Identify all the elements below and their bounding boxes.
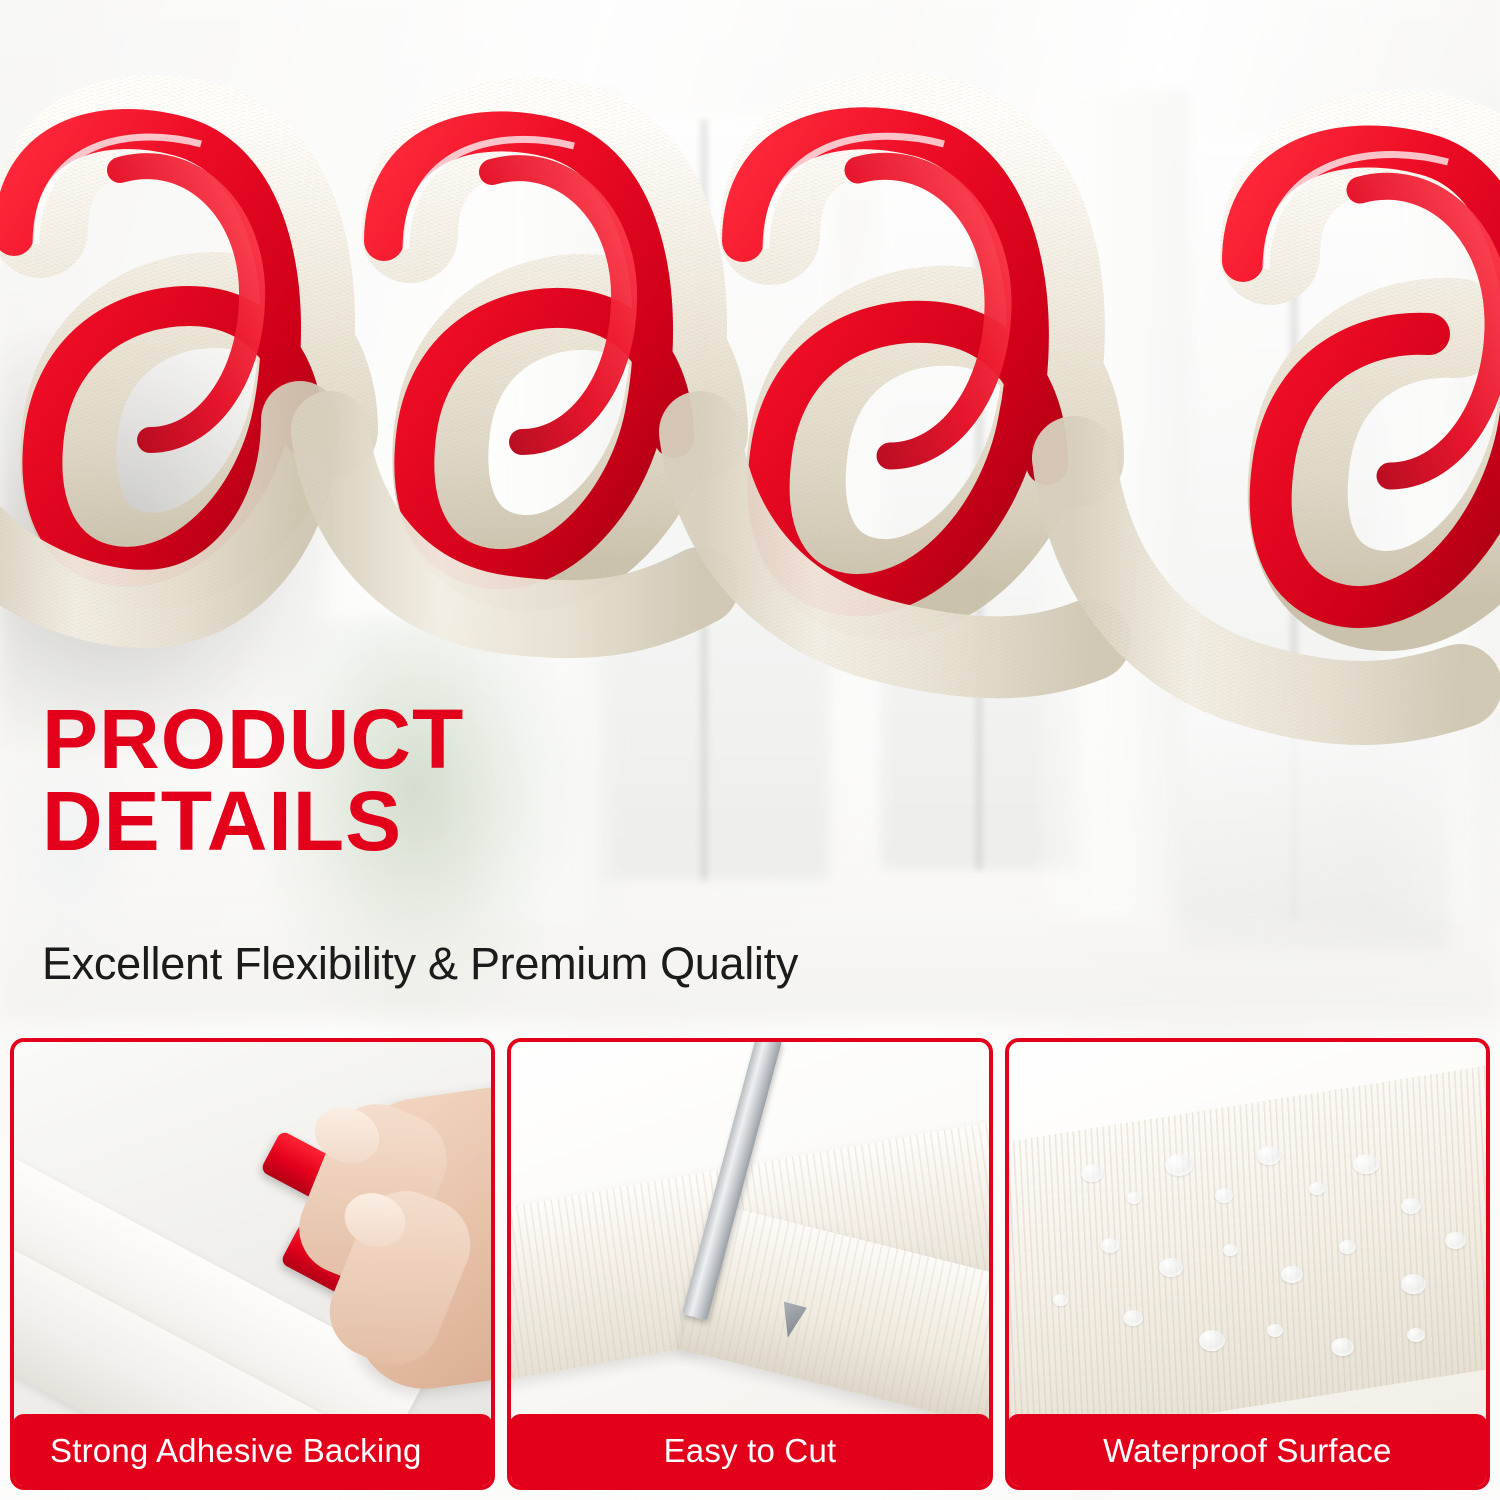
page-title: PRODUCT DETAILS (42, 698, 762, 863)
water-droplet (1401, 1198, 1421, 1214)
water-droplet (1309, 1182, 1325, 1195)
feature-card-adhesive: Strong Adhesive Backing (10, 1038, 495, 1490)
page-subtitle: Excellent Flexibility & Premium Quality (42, 938, 798, 990)
water-droplet (1165, 1154, 1193, 1176)
banding-strip (1009, 1054, 1486, 1424)
water-droplet (1407, 1328, 1425, 1342)
headline-line-2: DETAILS (42, 780, 762, 862)
water-droplet (1159, 1258, 1183, 1277)
feature-card-caption: Waterproof Surface (1007, 1414, 1488, 1488)
water-droplet (1127, 1192, 1141, 1204)
feature-cards: Strong Adhesive Backing Easy to Cut (10, 1038, 1490, 1490)
water-droplet (1053, 1294, 1068, 1306)
water-droplets-on-banding-photo (1009, 1042, 1486, 1424)
coil-tails (0, 420, 1460, 703)
water-droplet (1123, 1310, 1143, 1326)
water-droplet (1353, 1154, 1379, 1174)
feature-card-easy-to-cut: Easy to Cut (507, 1038, 992, 1490)
coils-svg (0, 0, 1500, 760)
water-droplet (1199, 1330, 1225, 1351)
coil-4 (1243, 141, 1500, 608)
hand-pressing-adhesive-strips-photo (14, 1042, 491, 1424)
water-droplet (1339, 1240, 1356, 1254)
water-droplet (1101, 1238, 1119, 1253)
feature-card-caption: Easy to Cut (509, 1414, 990, 1488)
water-droplet (1445, 1232, 1466, 1249)
coil-3 (743, 122, 1074, 595)
edge-banding-coils (0, 0, 1500, 760)
headline-line-1: PRODUCT (42, 692, 464, 786)
water-droplet (1401, 1274, 1426, 1294)
water-droplet (1081, 1164, 1103, 1182)
water-droplet (1257, 1146, 1281, 1165)
water-droplet (1331, 1338, 1354, 1356)
water-droplet (1223, 1244, 1238, 1256)
water-droplet (1281, 1266, 1303, 1283)
water-droplet (1267, 1324, 1283, 1337)
feature-card-caption: Strong Adhesive Backing (12, 1414, 493, 1488)
product-detail-image: PRODUCT DETAILS Excellent Flexibility & … (0, 0, 1500, 1500)
feature-card-waterproof: Waterproof Surface (1005, 1038, 1490, 1490)
water-droplet (1215, 1188, 1233, 1203)
knife-cutting-banding-photo (511, 1042, 988, 1424)
coil-2 (384, 125, 700, 569)
